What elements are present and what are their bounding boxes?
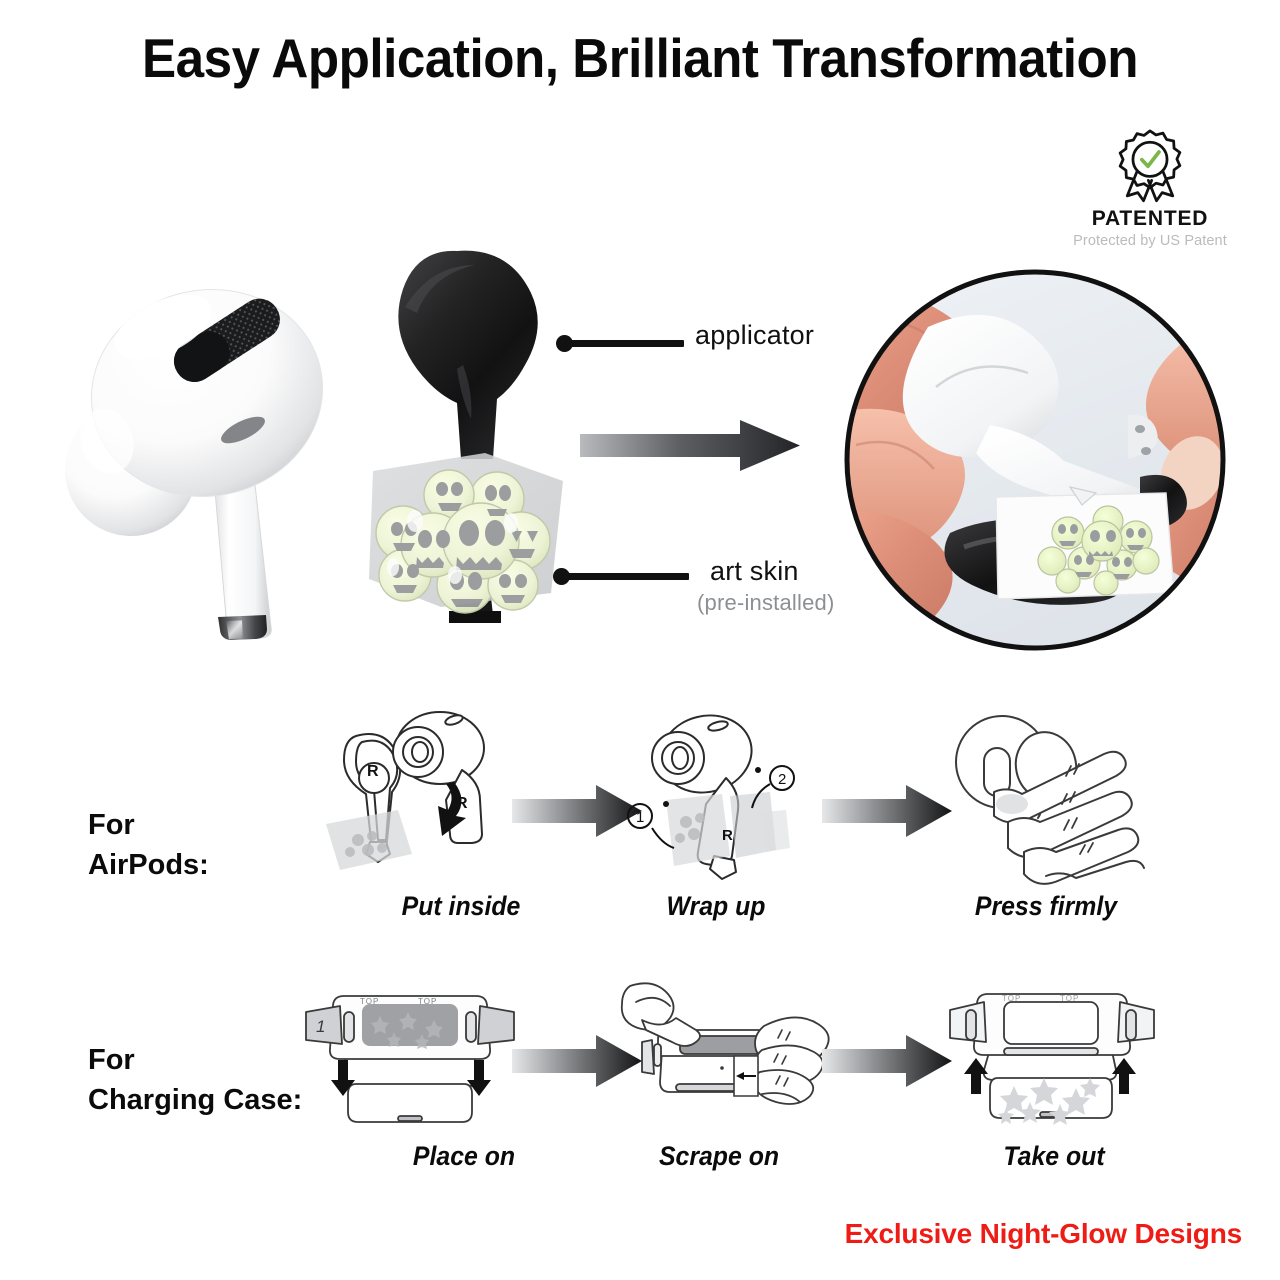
black-applicator-with-art-skin-photo	[345, 245, 600, 645]
marker-r-wrap: R	[722, 827, 733, 844]
section-label-case-line2: Charging Case:	[88, 1080, 302, 1120]
marker-r-applicator: R	[367, 763, 379, 780]
section-label-airpods: For AirPods:	[88, 805, 209, 885]
patent-badge-subtitle: Protected by US Patent	[1050, 234, 1250, 249]
page-title: Easy Application, Brilliant Transformati…	[45, 26, 1235, 90]
step-caption-take-out: Take out	[934, 1141, 1173, 1172]
step-art-place-on: TOP TOP 1	[300, 980, 520, 1130]
step-caption-place-on: Place on	[344, 1141, 583, 1172]
marker-top-right-2: TOP	[1060, 994, 1079, 1003]
section-label-airpods-line1: For	[88, 805, 209, 845]
callout-line-art-skin	[561, 573, 689, 580]
hands-applying-skin-to-airpod-photo	[840, 265, 1230, 655]
patent-badge: PATENTED Protected by US Patent	[1050, 126, 1250, 249]
step-art-take-out: TOP TOP	[940, 980, 1160, 1130]
gradient-right-arrow-icon	[580, 418, 800, 473]
step-art-press-firmly	[950, 700, 1150, 885]
label-art-skin-sub: (pre-installed)	[697, 590, 835, 616]
label-applicator: applicator	[695, 320, 814, 351]
section-label-case-line1: For	[88, 1040, 302, 1080]
airpods-pro-earbud-photo	[55, 245, 365, 655]
marker-top-left-2: TOP	[1002, 994, 1021, 1003]
step-caption-scrape-on: Scrape on	[599, 1141, 838, 1172]
marker-2-wrap: 2	[778, 771, 786, 788]
marker-1-wrap: 1	[636, 809, 644, 826]
step-art-scrape-on	[612, 980, 837, 1130]
section-label-airpods-line2: AirPods:	[88, 845, 209, 885]
step-art-wrap-up: R 1 2	[622, 700, 822, 885]
step-arrow-2-icon	[822, 782, 952, 840]
step-art-put-inside: R R	[312, 700, 512, 885]
section-label-charging-case: For Charging Case:	[88, 1040, 302, 1120]
label-art-skin: art skin	[710, 556, 799, 587]
infographic-stage: Easy Application, Brilliant Transformati…	[0, 0, 1280, 1280]
marker-top-left: TOP	[360, 997, 379, 1006]
step-arrow-4-icon	[822, 1032, 952, 1090]
footer-note: Exclusive Night-Glow Designs	[845, 1218, 1242, 1250]
patent-badge-title: PATENTED	[1050, 208, 1250, 229]
marker-top-right: TOP	[418, 997, 437, 1006]
step-caption-put-inside: Put inside	[341, 891, 580, 922]
award-ribbon-check-icon	[1050, 126, 1250, 204]
step-caption-press-firmly: Press firmly	[926, 891, 1165, 922]
callout-line-applicator	[564, 340, 684, 347]
marker-1-case: 1	[316, 1017, 325, 1036]
step-caption-wrap-up: Wrap up	[596, 891, 835, 922]
